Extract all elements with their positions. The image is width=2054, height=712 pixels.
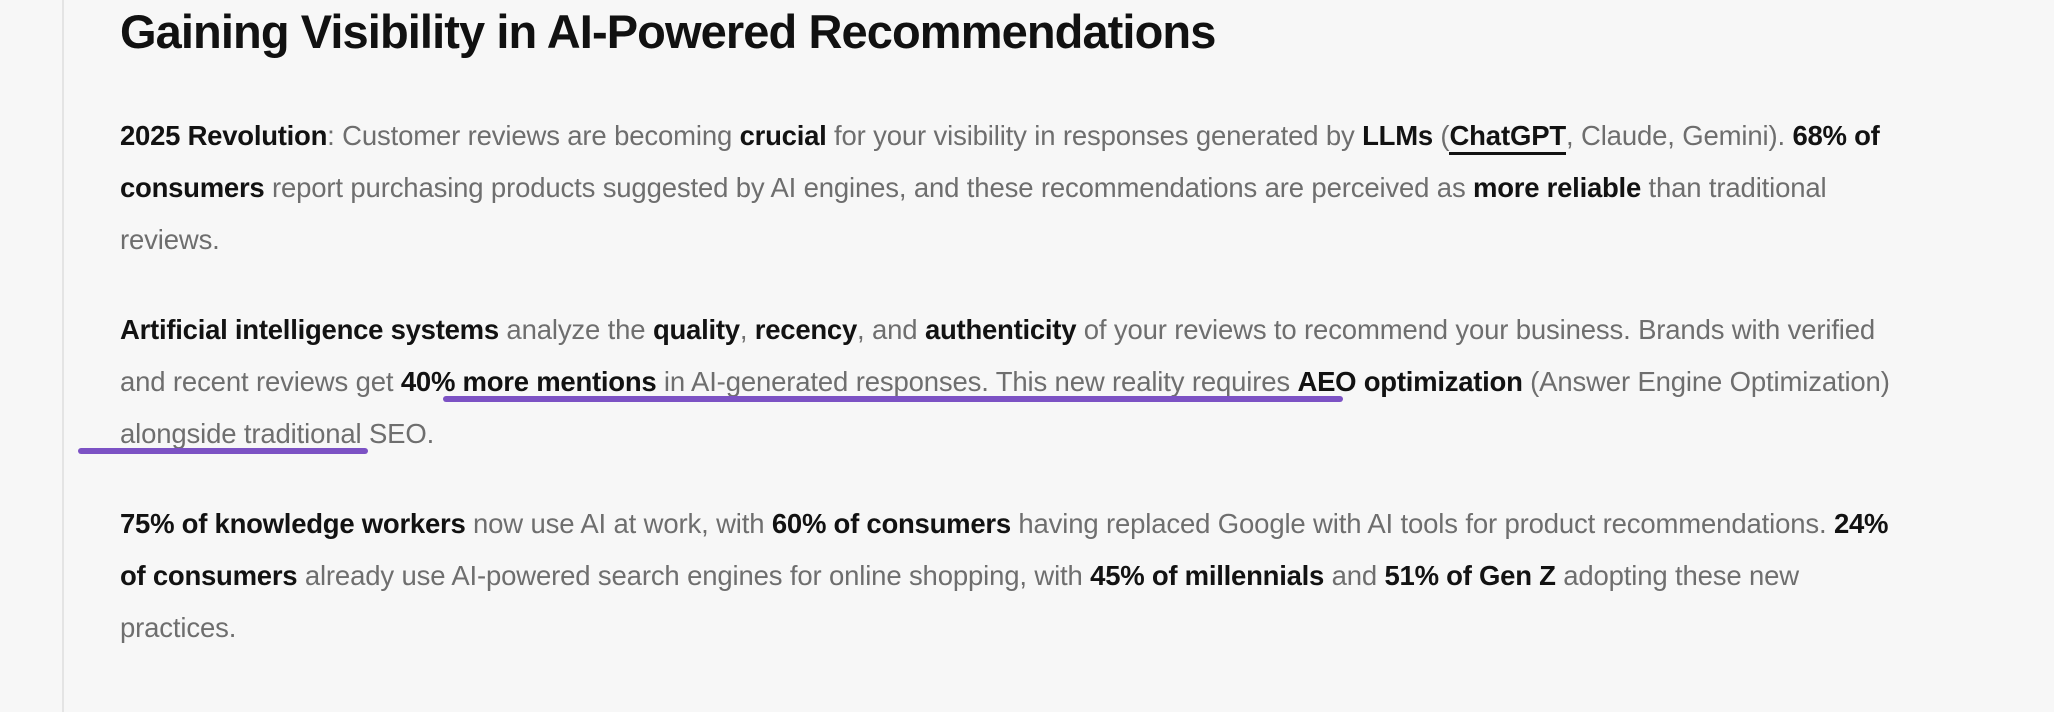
body-text: now use AI at work, with — [466, 508, 772, 539]
emphasis-text: LLMs — [1362, 120, 1433, 151]
body-text: already use AI-powered search engines fo… — [297, 560, 1090, 591]
paragraph-3: 75% of knowledge workers now use AI at w… — [120, 498, 1910, 654]
body-text: , — [740, 314, 755, 345]
emphasis-text: 60% of consumers — [772, 508, 1011, 539]
underlined-term: ChatGPT — [1449, 120, 1566, 155]
body-text: : Customer reviews are becoming — [327, 120, 739, 151]
emphasis-text: more reliable — [1473, 172, 1641, 203]
emphasis-text: recency — [755, 314, 857, 345]
emphasis-text: crucial — [740, 120, 827, 151]
body-text: having replaced Google with AI tools for… — [1011, 508, 1834, 539]
emphasis-text: 45% of millennials — [1090, 560, 1324, 591]
paragraph-1: 2025 Revolution: Customer reviews are be… — [120, 110, 1910, 266]
article-content: Gaining Visibility in AI-Powered Recomme… — [120, 0, 1960, 654]
left-margin-rule — [62, 0, 64, 712]
emphasis-text: Artificial intelligence systems — [120, 314, 499, 345]
body-text: ( — [1433, 120, 1450, 151]
emphasis-text: authenticity — [925, 314, 1076, 345]
body-text: for your visibility in responses generat… — [827, 120, 1363, 151]
body-text: and — [1324, 560, 1384, 591]
body-text: , Claude, Gemini). — [1566, 120, 1792, 151]
article-page: Gaining Visibility in AI-Powered Recomme… — [0, 0, 2054, 712]
body-text: report purchasing products suggested by … — [264, 172, 1473, 203]
emphasis-text: quality — [653, 314, 740, 345]
emphasis-text: 2025 Revolution — [120, 120, 327, 151]
body-text: in AI-generated responses. This new real… — [656, 366, 1297, 397]
emphasis-text: 75% of knowledge workers — [120, 508, 466, 539]
page-title: Gaining Visibility in AI-Powered Recomme… — [120, 0, 1960, 59]
body-text: analyze the — [499, 314, 653, 345]
paragraph-2: Artificial intelligence systems analyze … — [120, 304, 1910, 460]
body-text: , and — [857, 314, 925, 345]
emphasis-text: 51% of Gen Z — [1385, 560, 1556, 591]
emphasis-text: 40% more mentions — [401, 366, 657, 397]
emphasis-text: AEO optimization — [1297, 366, 1522, 397]
